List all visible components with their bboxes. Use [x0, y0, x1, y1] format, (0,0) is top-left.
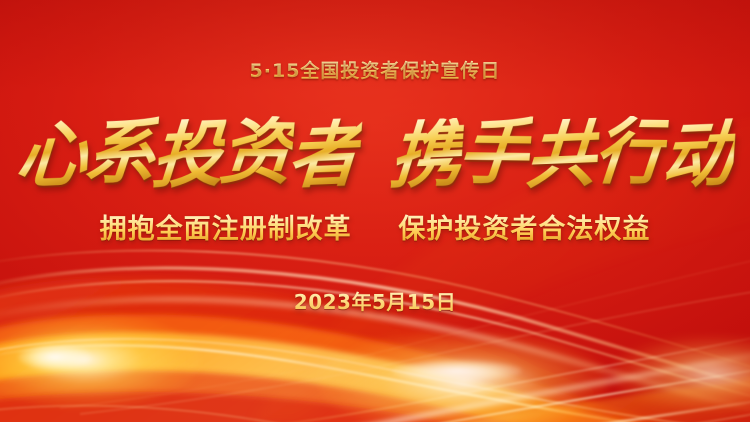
headline-part-1: 心 系 投 资 者 [18, 118, 358, 190]
headline-char: 动 [659, 118, 736, 193]
investor-protection-banner: 5·15全国投资者保护宣传日 心 系 投 资 者 携 手 共 行 动 拥抱全面注… [0, 0, 750, 422]
headline-part-2: 携 手 共 行 动 [392, 118, 732, 190]
headline-char: 系 [81, 116, 159, 189]
headline: 心 系 投 资 者 携 手 共 行 动 [0, 108, 750, 200]
headline-char: 投 [149, 118, 226, 193]
headline-char: 携 [387, 118, 464, 193]
headline-char: 共 [523, 118, 600, 193]
subtitle-right-text: 保护投资者合法权益 [398, 214, 650, 245]
banner-content: 5·15全国投资者保护宣传日 心 系 投 资 者 携 手 共 行 动 拥抱全面注… [0, 0, 750, 422]
headline-char: 心 [13, 118, 90, 193]
headline-char: 手 [455, 116, 533, 189]
event-eyebrow-text: 5·15全国投资者保护宣传日 [0, 60, 750, 83]
subtitle-left-text: 拥抱全面注册制改革 [100, 214, 352, 245]
headline-char: 资 [217, 116, 295, 189]
headline-char: 者 [285, 118, 362, 193]
event-date-text: 2023年5月15日 [0, 290, 750, 314]
subtitle: 拥抱全面注册制改革 保护投资者合法权益 [0, 213, 750, 247]
headline-char: 行 [591, 116, 669, 189]
